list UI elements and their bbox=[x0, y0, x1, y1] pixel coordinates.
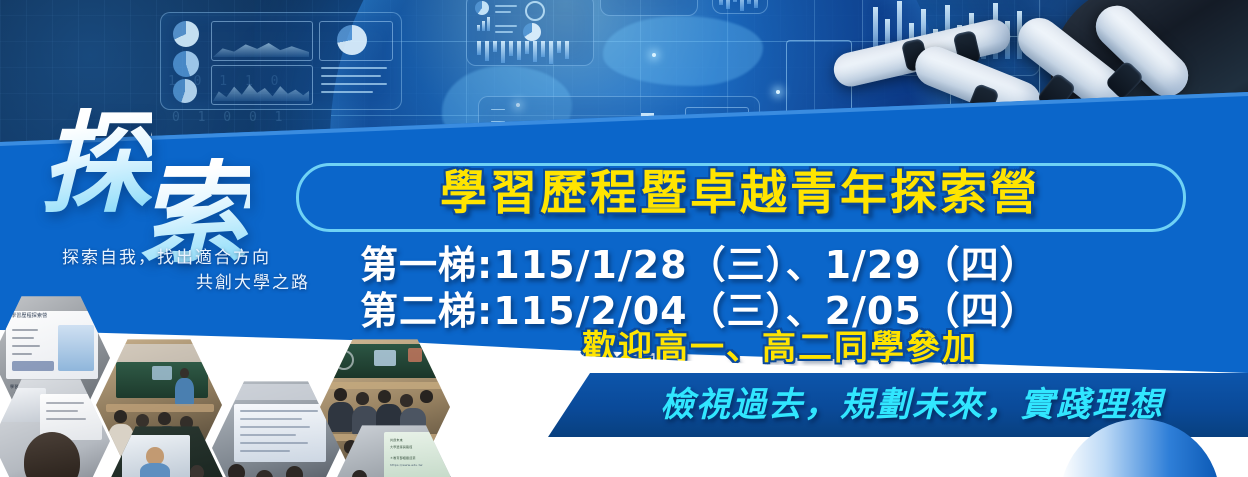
binary-decor-1: 0 1 0 0 1 bbox=[172, 110, 287, 125]
mini-bars-hud-icon bbox=[712, 0, 768, 14]
subtitle-line-1: 探索自我，找出適合方向 bbox=[62, 243, 271, 268]
dashboard-hud-icon bbox=[160, 12, 402, 110]
upload-hud-icon bbox=[600, 0, 698, 16]
page-title: 學習歷程暨卓越青年探索營 bbox=[312, 165, 1168, 223]
stats-hud-icon bbox=[466, 0, 594, 66]
brand-script-char-1: 探 bbox=[40, 108, 152, 220]
promo-banner: 1 0 1 1 0 0 1 0 0 1 1 1 0 1 0 0 0 1 1 0 bbox=[0, 0, 1248, 477]
subtitle-line-2: 共創大學之路 bbox=[196, 268, 310, 293]
